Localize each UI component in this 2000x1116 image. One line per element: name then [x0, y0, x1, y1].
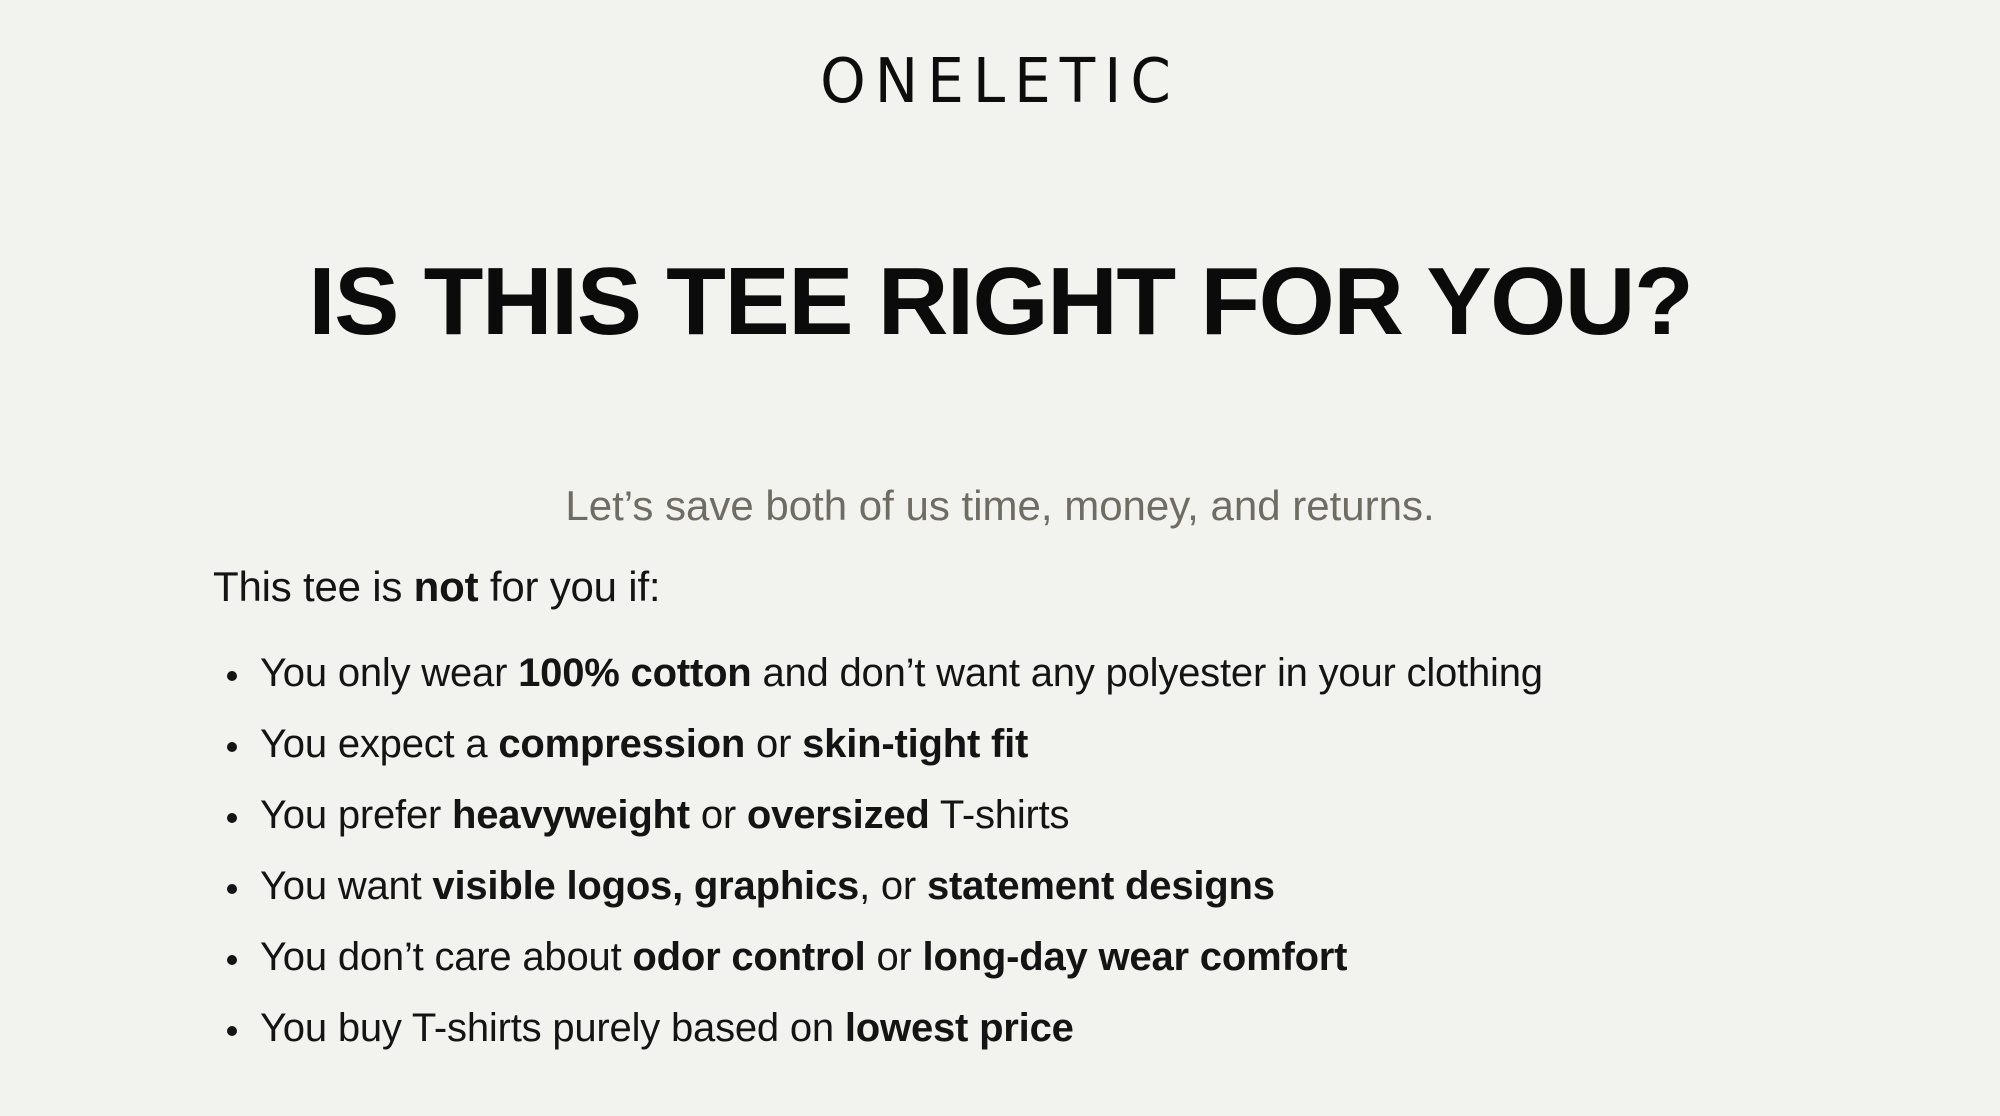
bullet-dot-icon [227, 884, 237, 894]
list-item: You buy T-shirts purely based on lowest … [213, 1008, 1913, 1048]
bullet-dot-icon [227, 742, 237, 752]
list-item-label: You only wear 100% cotton and don’t want… [260, 651, 1543, 695]
list-item-label: You want visible logos, graphics, or sta… [260, 864, 1275, 908]
disqualifier-section: This tee is not for you if: You only wea… [213, 521, 1913, 1048]
list-item: You prefer heavyweight or oversized T-sh… [213, 795, 1913, 835]
list-item: You only wear 100% cotton and don’t want… [213, 653, 1913, 693]
bullet-dot-icon [227, 1026, 237, 1036]
list-item-label: You expect a compression or skin-tight f… [260, 722, 1028, 766]
headline-container: IS THIS TEE RIGHT FOR YOU? [0, 190, 2000, 415]
bullet-dot-icon [227, 813, 237, 823]
list-item-label: You buy T-shirts purely based on lowest … [260, 1006, 1074, 1050]
list-item: You expect a compression or skin-tight f… [213, 724, 1913, 764]
list-item: You want visible logos, graphics, or sta… [213, 866, 1913, 906]
bullet-dot-icon [227, 955, 237, 965]
marketing-slide: ONELETIC IS THIS TEE RIGHT FOR YOU? Let’… [0, 0, 2000, 1116]
list-item-label: You don’t care about odor control or lon… [260, 935, 1347, 979]
intro-line: This tee is not for you if: [213, 563, 1913, 611]
page-title: IS THIS TEE RIGHT FOR YOU? [308, 254, 1692, 350]
list-item-label: You prefer heavyweight or oversized T-sh… [260, 793, 1069, 837]
brand-logo-wordmark: ONELETIC [820, 50, 1180, 111]
bullet-dot-icon [227, 671, 237, 681]
disqualifier-list: You only wear 100% cotton and don’t want… [213, 653, 1913, 1048]
list-item: You don’t care about odor control or lon… [213, 937, 1913, 977]
brand-header: ONELETIC [0, 0, 2000, 110]
